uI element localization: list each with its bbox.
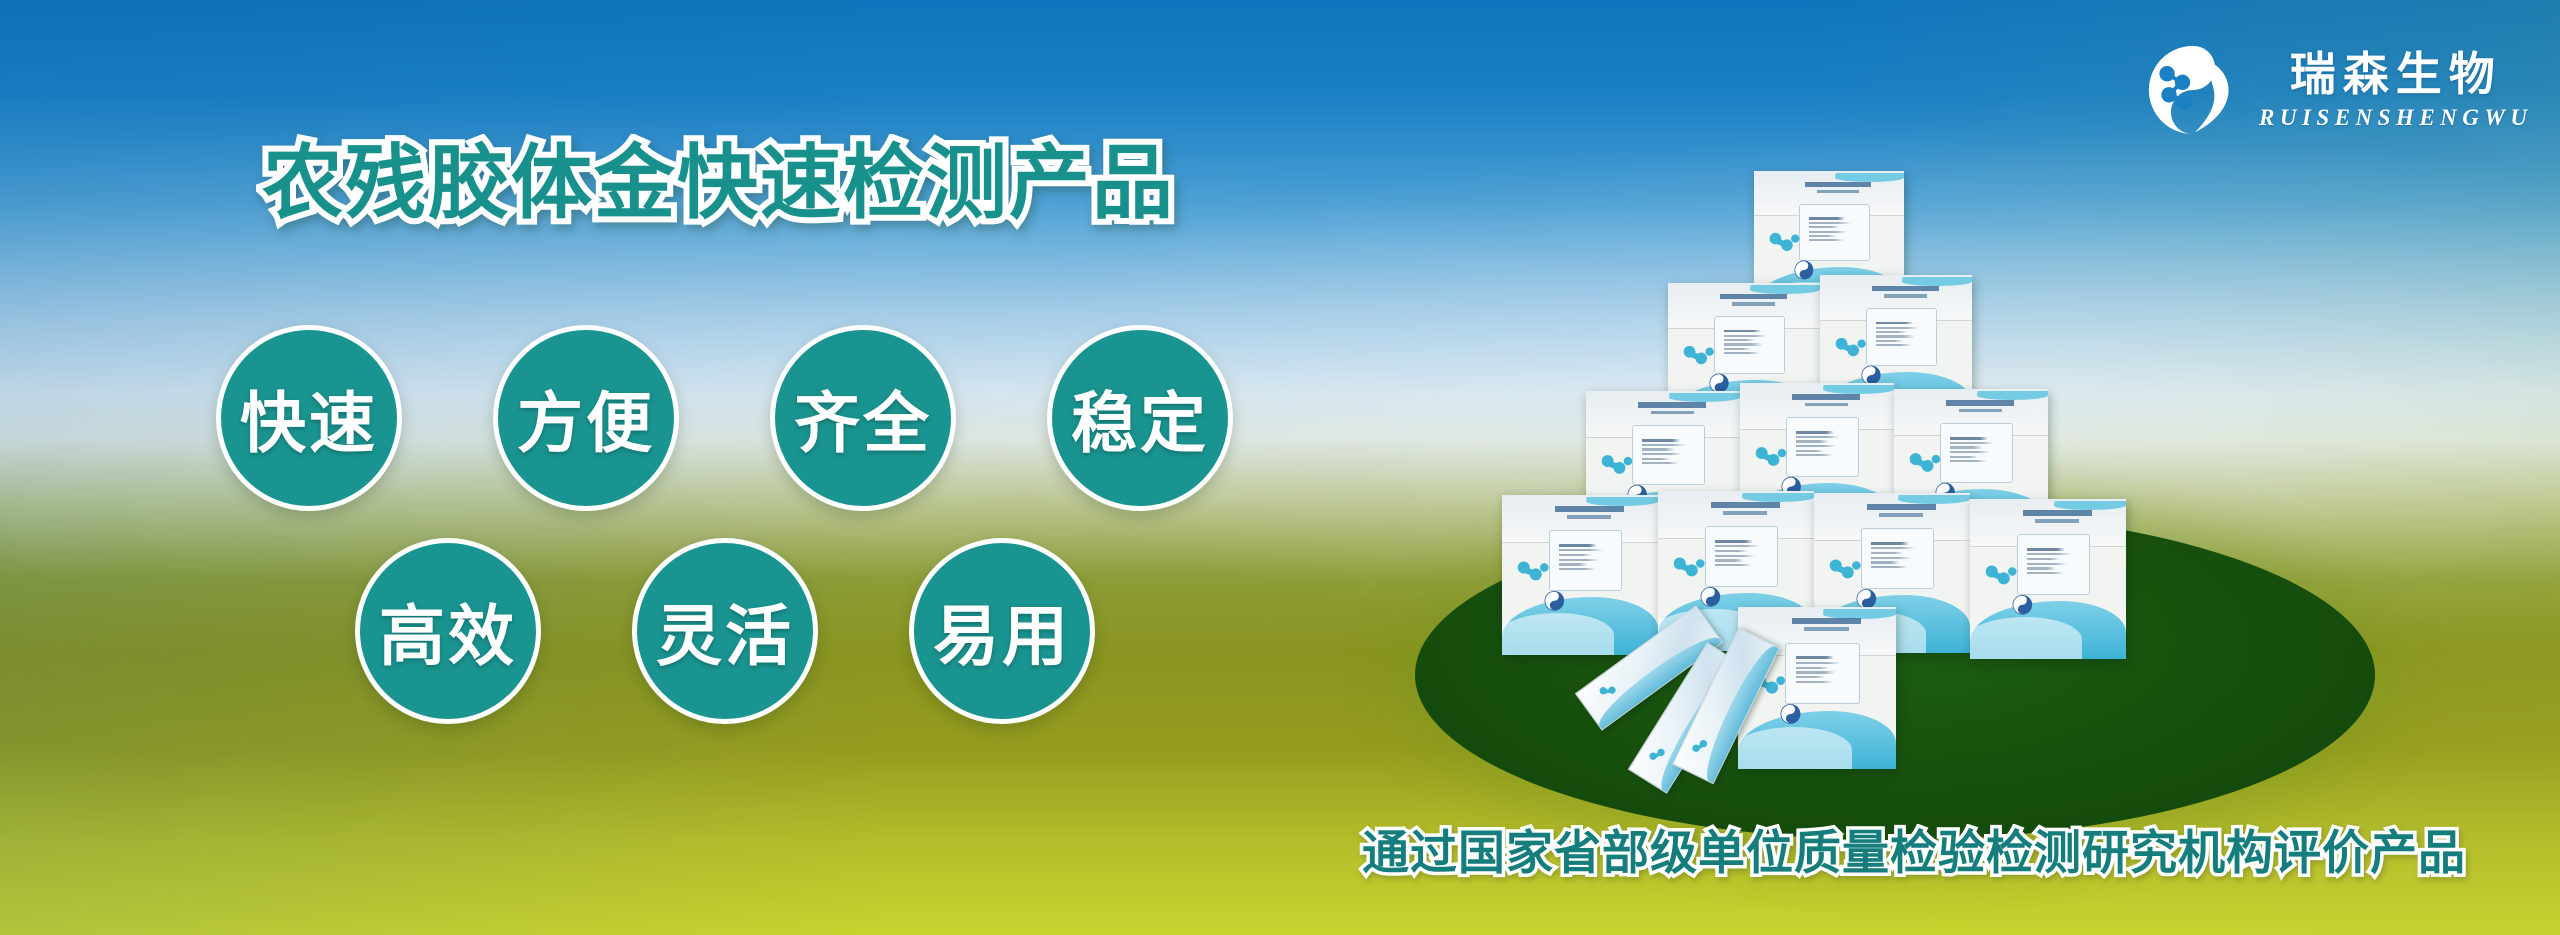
box-wave-highlight <box>1502 613 1614 655</box>
feature-bubble-label: 快速 <box>240 370 378 466</box>
brand-name-en: RUISENSHENGWU <box>2259 106 2532 129</box>
box-label <box>1705 526 1778 587</box>
box-wave-highlight <box>1970 617 2082 659</box>
box-brand <box>1699 584 1786 610</box>
box-label <box>1549 530 1622 591</box>
yinyang-molecule-icon <box>2145 42 2241 138</box>
box-top-text <box>1805 182 1871 196</box>
feature-bubble: 高效 <box>355 538 541 724</box>
box-top-text <box>1872 286 1939 300</box>
box-label <box>1861 528 1934 589</box>
feature-bubble: 稳定 <box>1047 325 1233 511</box>
box-brand-icon <box>1543 588 1566 614</box>
feature-bubble-label: 齐全 <box>794 370 932 466</box>
brand-logo-text: 瑞森生物 RUISENSHENGWU <box>2259 51 2532 129</box>
box-lid-wave <box>1742 493 1814 502</box>
box-label <box>1866 308 1937 366</box>
feature-bubble: 齐全 <box>770 325 956 511</box>
box-lid-wave <box>1901 277 1972 286</box>
box-top-text <box>1720 294 1787 308</box>
box-top-text <box>1867 504 1936 518</box>
box-top-text <box>1946 400 2014 414</box>
box-brand <box>1779 701 1867 727</box>
box-brand-icon <box>1793 258 1815 282</box>
feature-bubble: 易用 <box>909 538 1095 724</box>
box-lid-wave <box>1977 391 2048 400</box>
brand-logo: 瑞森生物 RUISENSHENGWU <box>2145 42 2532 138</box>
box-lid-wave <box>1823 609 1896 619</box>
feature-bubble: 快速 <box>216 325 402 511</box>
box-top-text <box>1555 506 1624 520</box>
product-photo <box>1350 175 2450 895</box>
box-lid-wave <box>1669 393 1740 402</box>
feature-bubble-label: 灵活 <box>656 583 794 679</box>
box-lid-wave <box>1898 495 1970 504</box>
box-brand-icon <box>1779 701 1802 727</box>
feature-bubble: 灵活 <box>632 538 818 724</box>
box-brand <box>2011 592 2098 618</box>
box-label <box>1785 643 1859 705</box>
box-brand-icon <box>1699 584 1722 610</box>
box-label <box>1799 204 1870 261</box>
box-label <box>2017 534 2090 595</box>
box-brand-icon <box>2011 592 2034 618</box>
box-top-text <box>2023 510 2092 524</box>
feature-bubble-label: 稳定 <box>1071 370 1209 466</box>
box-top-text <box>1792 618 1862 633</box>
certification-caption: 通过国家省部级单位质量检验检测研究机构评价产品 <box>1362 814 2466 883</box>
box-label <box>1632 425 1704 484</box>
product-box <box>1970 499 2126 659</box>
box-lid-wave <box>1834 173 1904 182</box>
box-lid-wave <box>1586 497 1658 506</box>
box-label <box>1714 316 1785 374</box>
feature-bubble-label: 方便 <box>517 370 655 466</box>
page-title: 农残胶体金快速检测产品 <box>262 118 1175 235</box>
brand-name-cn: 瑞森生物 <box>2290 51 2502 97</box>
product-box <box>1738 607 1896 769</box>
product-box <box>1502 495 1658 655</box>
box-top-text <box>1638 402 1706 416</box>
box-top-text <box>1792 394 1860 408</box>
box-label <box>1940 423 2012 482</box>
promo-banner: 瑞森生物 RUISENSHENGWU 农残胶体金快速检测产品 快速 方便 齐全 … <box>0 0 2560 935</box>
box-lid-wave <box>1749 285 1820 294</box>
feature-bubble: 方便 <box>493 325 679 511</box>
box-top-text <box>1711 502 1780 516</box>
feature-bubble-label: 高效 <box>379 583 517 679</box>
box-brand <box>1543 588 1630 614</box>
box-label <box>1786 417 1858 476</box>
box-lid-wave <box>2054 501 2126 510</box>
box-lid-wave <box>1823 385 1894 394</box>
box-wave-highlight <box>1738 727 1852 769</box>
feature-bubble-label: 易用 <box>933 583 1071 679</box>
